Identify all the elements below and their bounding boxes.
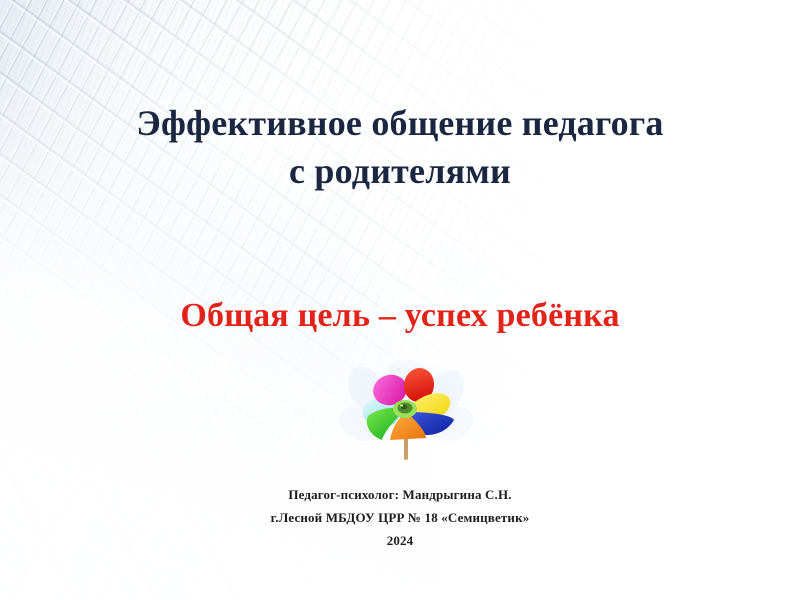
credit-line-author: Педагог-психолог: Мандрыгина С.Н. — [0, 483, 800, 506]
flower-center — [393, 400, 417, 418]
title-line-2: с родителями — [0, 148, 800, 196]
presentation-title-slide: Эффективное общение педагога с родителям… — [0, 0, 800, 600]
title-line-1: Эффективное общение педагога — [0, 100, 800, 148]
pinwheel-flower-icon — [334, 352, 480, 460]
subtitle-line-1: Общая цель – успех ребёнка — [0, 296, 800, 337]
credit-line-year: 2024 — [0, 529, 800, 552]
slide-credits: Педагог-психолог: Мандрыгина С.Н. г.Лесн… — [0, 483, 800, 552]
slide-subtitle: Общая цель – успех ребёнка — [0, 296, 800, 337]
slide-title: Эффективное общение педагога с родителям… — [0, 100, 800, 195]
credit-line-institution: г.Лесной МБДОУ ЦРР № 18 «Семицветик» — [0, 506, 800, 529]
